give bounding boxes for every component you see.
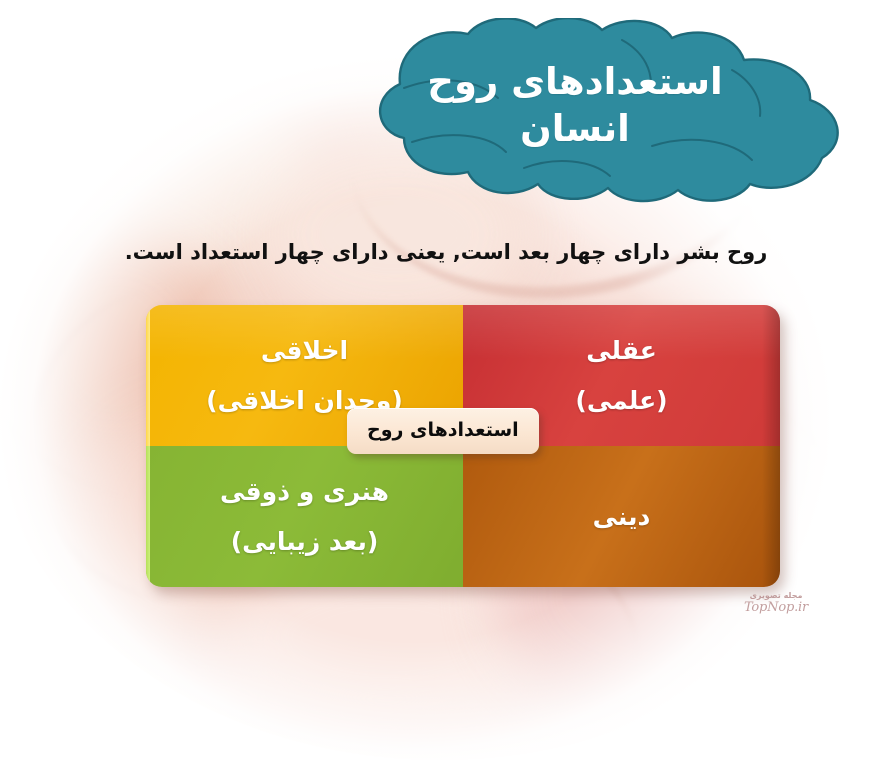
quadrant-akhlaqi-title: اخلاقی: [261, 337, 348, 365]
title-cloud-text: استعدادهای روح انسان: [292, 58, 858, 153]
quadrant-dini-title: دینی: [593, 503, 651, 531]
infographic-canvas: استعدادهای روح انسان روح بشر دارای چهار …: [0, 0, 892, 768]
subtitle-text: روح بشر دارای چهار بعد است, یعنی دارای چ…: [0, 240, 892, 264]
quadrant-aqli-title: عقلی: [586, 337, 657, 365]
quadrant-aqli-subtitle: (علمی): [575, 387, 667, 415]
center-label-text: استعدادهای روح: [367, 419, 519, 441]
quadrant-dini[interactable]: دینی: [463, 446, 780, 587]
quadrant-honari[interactable]: هنری و ذوقی (بعد زیبایی): [146, 446, 463, 587]
title-line-2: انسان: [520, 107, 630, 150]
center-label-box[interactable]: استعدادهای روح: [347, 408, 539, 454]
quadrant-honari-title: هنری و ذوقی: [220, 478, 389, 506]
title-line-1: استعدادهای روح: [427, 60, 722, 103]
quadrant-edge-shadow: [762, 446, 780, 587]
quadrant-edge-shadow: [762, 305, 780, 446]
quadrant-honari-subtitle: (بعد زیبایی): [231, 528, 379, 556]
title-cloud: استعدادهای روح انسان: [292, 18, 858, 204]
